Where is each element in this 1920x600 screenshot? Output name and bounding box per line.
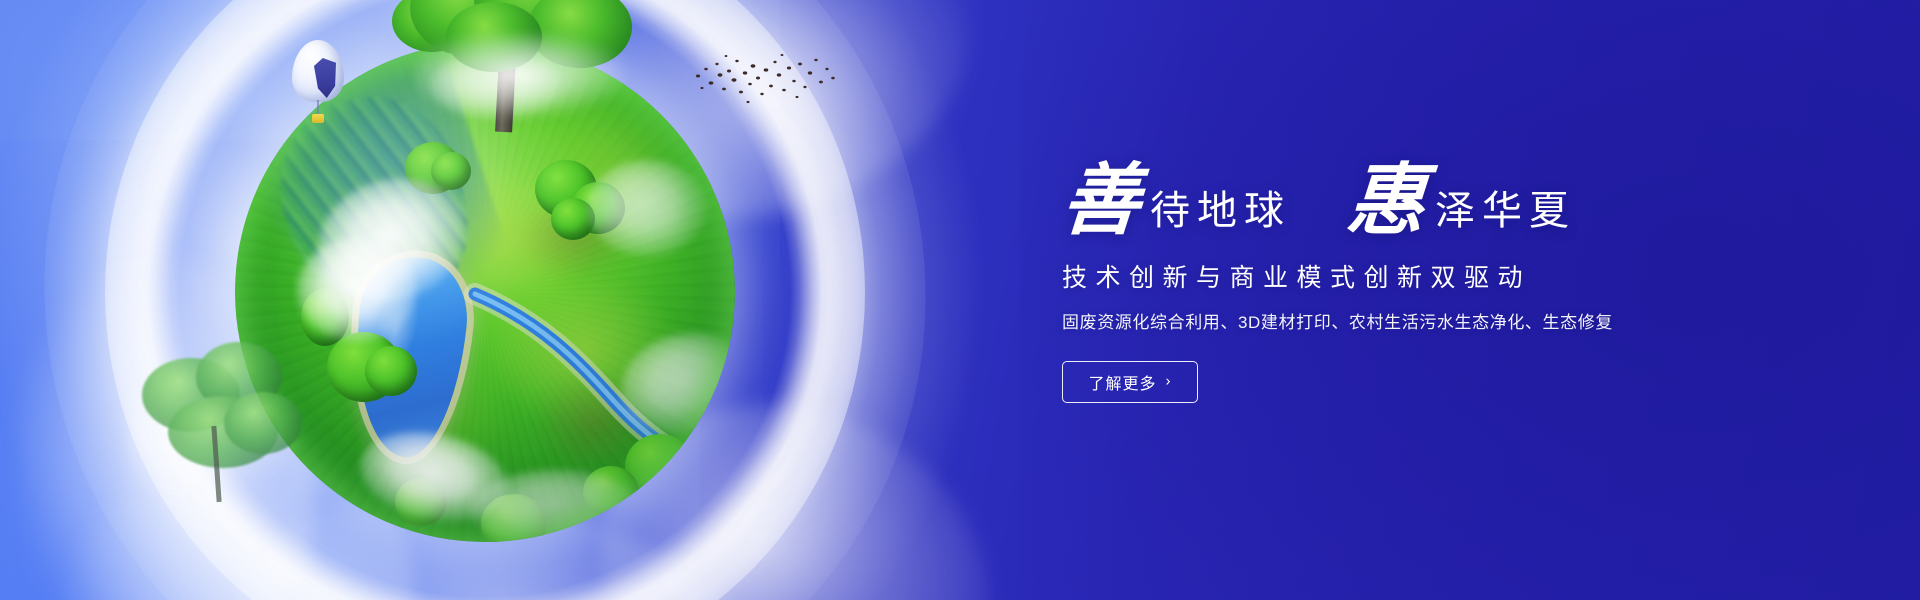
banner-content: 善 待地球 惠 泽华夏 技术创新与商业模式创新双驱动 固废资源化综合利用、3D建…: [1062, 164, 1802, 403]
tree-canopy: [224, 392, 302, 454]
side-tree-group: [138, 330, 318, 530]
tree-cluster: [431, 152, 471, 190]
headline-char-hui: 惠: [1344, 164, 1427, 239]
learn-more-button[interactable]: 了解更多 ›: [1062, 361, 1198, 403]
tree-cluster: [365, 346, 417, 396]
balloon-basket: [312, 114, 324, 123]
large-tree: [392, 0, 632, 135]
page-title: 善 待地球 惠 泽华夏: [1062, 164, 1802, 239]
banner-description: 固废资源化综合利用、3D建材打印、农村生活污水生态净化、生态修复: [1062, 311, 1802, 335]
surface-cloud: [471, 470, 641, 542]
hero-banner: 善 待地球 惠 泽华夏 技术创新与商业模式创新双驱动 固废资源化综合利用、3D建…: [0, 0, 1920, 600]
bird-flock: [690, 42, 840, 110]
surface-cloud: [297, 238, 417, 342]
learn-more-label: 了解更多: [1088, 370, 1156, 394]
banner-subtitle: 技术创新与商业模式创新双驱动: [1062, 263, 1802, 293]
headline-text-zehuaxia: 泽华夏: [1425, 191, 1576, 239]
hot-air-balloon: [292, 40, 348, 132]
headline-char-shan: 善: [1059, 164, 1142, 239]
tree-mist: [416, 34, 626, 118]
surface-cloud: [587, 160, 707, 256]
headline-text-daidiqiu: 待地球: [1140, 191, 1291, 239]
chevron-right-icon: ›: [1166, 374, 1172, 389]
